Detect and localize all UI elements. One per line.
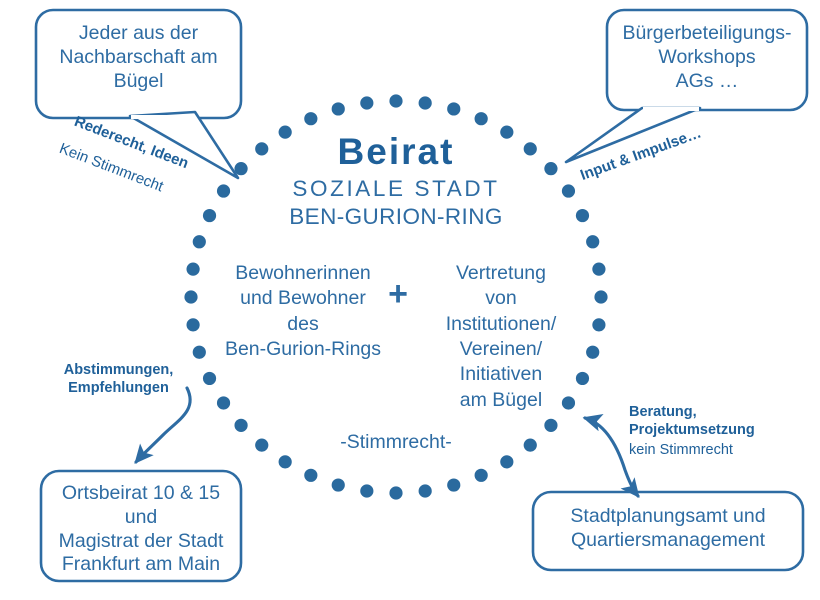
ring-subtitle-1: SOZIALE STADT (246, 175, 546, 202)
ring-dot (217, 184, 230, 197)
ring-voting-note: -Stimmrecht- (301, 431, 491, 455)
diagram-canvas: Jeder aus der Nachbarschaft am Bügel Red… (0, 0, 820, 600)
ring-dot (544, 162, 557, 175)
ring-dot (544, 419, 557, 432)
ring-dot (475, 469, 488, 482)
ring-dot (193, 235, 206, 248)
ring-title: Beirat (246, 129, 546, 174)
ring-dot (304, 112, 317, 125)
ring-dot (203, 372, 216, 385)
ring-group-institutions: Vertretung von Institutionen/ Vereinen/ … (421, 261, 581, 413)
plus-symbol: + (383, 274, 413, 315)
ring-dot (304, 469, 317, 482)
ring-dot (592, 263, 605, 276)
ring-dot (217, 396, 230, 409)
ring-dot (447, 478, 460, 491)
ring-dot (186, 318, 199, 331)
ring-dot (332, 478, 345, 491)
ring-dot (360, 96, 373, 109)
ring-dot (562, 184, 575, 197)
ring-subtitle-2: BEN-GURION-RING (246, 203, 546, 230)
annotation-right-regular: kein Stimmrecht (629, 441, 809, 459)
ring-dot (234, 419, 247, 432)
ring-dot (586, 235, 599, 248)
ring-dot (500, 455, 513, 468)
arrow-left-recommendations (136, 388, 190, 462)
box-text-bottom-right: Stadtplanungsamt und Quartiersmanagement (533, 505, 803, 553)
ring-dot (193, 346, 206, 359)
ring-dot (594, 290, 607, 303)
ring-dot (255, 439, 268, 452)
ring-dot (447, 102, 460, 115)
ring-dot (586, 346, 599, 359)
ring-dot (419, 484, 432, 497)
ring-dot (203, 209, 216, 222)
bubble-text-top-right: Bürgerbeteiligungs- Workshops AGs … (607, 22, 807, 93)
ring-dot (576, 209, 589, 222)
ring-dot (475, 112, 488, 125)
ring-dot (389, 486, 402, 499)
bubble-text-top-left: Jeder aus der Nachbarschaft am Bügel (36, 22, 241, 93)
ring-group-residents: Bewohnerinnen und Bewohner des Ben-Gurio… (215, 261, 391, 362)
ring-dot (524, 439, 537, 452)
ring-dot (419, 96, 432, 109)
ring-dot (279, 455, 292, 468)
annotation-right-bold: Beratung, Projektumsetzung (629, 403, 809, 440)
annotation-left-bold: Abstimmungen, Empfehlungen (46, 361, 191, 398)
ring-dot (360, 484, 373, 497)
ring-dot (592, 318, 605, 331)
box-text-bottom-left: Ortsbeirat 10 & 15 und Magistrat der Sta… (41, 482, 241, 577)
ring-dot (389, 94, 402, 107)
ring-dot (184, 290, 197, 303)
ring-dot (332, 102, 345, 115)
ring-dot (186, 263, 199, 276)
